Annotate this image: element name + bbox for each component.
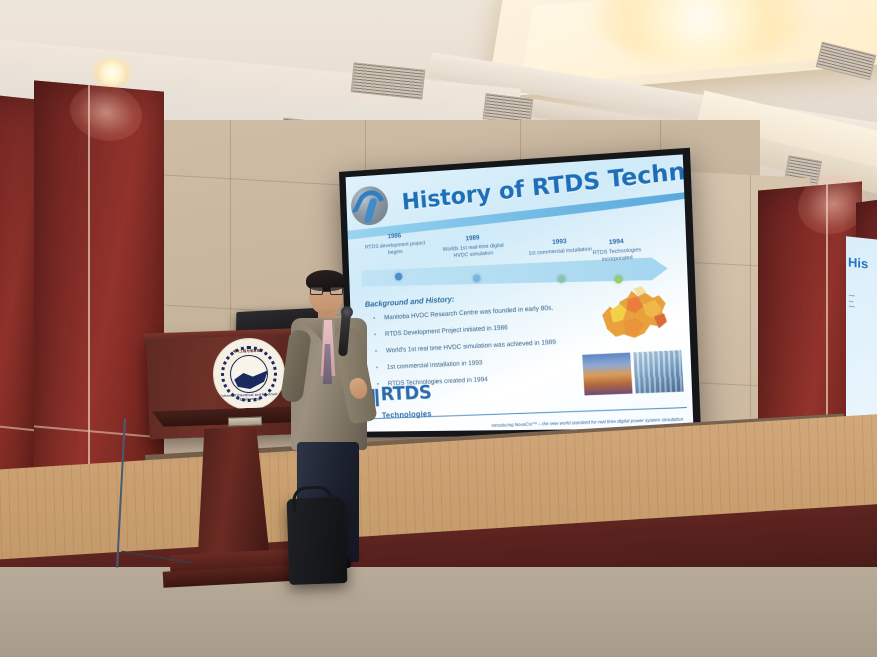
transmission-line-photo	[582, 353, 632, 396]
presenter-glasses	[310, 287, 343, 295]
list-item: World's 1st real time HVDC simulation wa…	[373, 337, 581, 356]
timeline-node-4	[614, 275, 623, 284]
wall-column-left-outer	[0, 92, 38, 519]
podium-nameplate	[228, 416, 262, 426]
list-item: RTDS Development Project initiated in 19…	[372, 320, 580, 340]
rtds-globe-logo-icon	[350, 185, 389, 227]
laptop-bag	[287, 497, 348, 585]
timeline-year-3: 1993	[529, 236, 589, 247]
list-item: 1st commercial installation in 1993	[374, 355, 582, 373]
rtds-wordmark: RTDS	[380, 382, 432, 406]
timeline-desc-2: Worlds 1st real-time digital HVDC simula…	[437, 242, 509, 260]
control-room-photo	[633, 350, 684, 393]
auditorium-floor	[0, 567, 877, 657]
timeline-desc-1: RTDS development project begins	[361, 240, 431, 258]
timeline-year-4: 1994	[586, 236, 648, 248]
canada-map-graphic	[597, 284, 677, 348]
timeline-year-2: 1989	[444, 233, 502, 244]
slide-photo-row	[582, 350, 683, 395]
slide-title: History of RTDS Technologies	[401, 154, 694, 215]
lecture-hall-photo: His ▪▪▪▪▪▪▪▪▪▪▪ History of RTDS Technolo…	[0, 0, 877, 657]
secondary-screen-body: ▪▪▪▪▪▪▪▪▪▪▪	[849, 293, 877, 313]
secondary-screen-title: His	[848, 254, 868, 271]
university-emblem: 电气工程与信息技术 School of Electrical and Elect…	[212, 337, 286, 411]
projection-screen[interactable]: History of RTDS Technologies 1986 RTDS d…	[339, 148, 701, 438]
secondary-projection-screen: His ▪▪▪▪▪▪▪▪▪▪▪	[846, 236, 877, 436]
presentation-slide: History of RTDS Technologies 1986 RTDS d…	[346, 154, 694, 431]
